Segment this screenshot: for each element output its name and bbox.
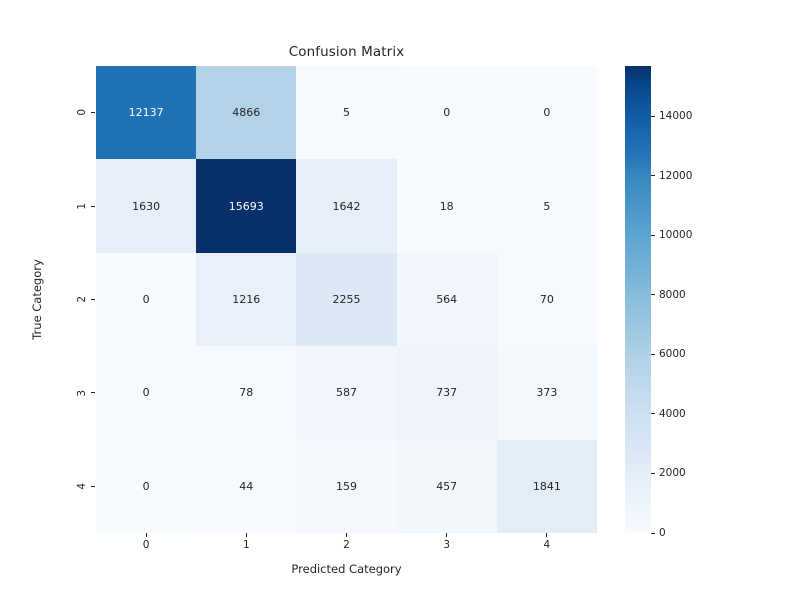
heatmap-cell-3-0: 0 <box>96 346 196 439</box>
heatmap-cell-0-4: 0 <box>497 66 597 159</box>
x-axis-tick-labels: 01234 <box>96 533 597 557</box>
colorbar-tick-label: 2000 <box>659 468 686 479</box>
confusion-matrix-figure: Confusion Matrix 12137486650016301569316… <box>0 0 800 600</box>
heatmap-cell-value: 70 <box>540 294 554 305</box>
colorbar-tick-label: 14000 <box>659 111 692 122</box>
heatmap-cell-1-2: 1642 <box>296 159 396 252</box>
colorbar-tick-label: 10000 <box>659 230 692 241</box>
y-axis-title: True Category <box>30 66 50 533</box>
heatmap-cell-0-0: 12137 <box>96 66 196 159</box>
colorbar-tick-label: 0 <box>659 528 666 539</box>
heatmap-cell-value: 0 <box>143 387 150 398</box>
heatmap-cell-value: 78 <box>239 387 253 398</box>
y-tick-mark <box>91 206 95 207</box>
heatmap-cell-4-1: 44 <box>196 440 296 533</box>
colorbar-tick-mark <box>651 533 655 534</box>
colorbar: 02000400060008000100001200014000 <box>625 66 651 533</box>
heatmap-cell-2-3: 564 <box>397 253 497 346</box>
colorbar-tick-label: 12000 <box>659 171 692 182</box>
heatmap-cell-value: 12137 <box>129 107 164 118</box>
heatmap-cell-value: 1216 <box>232 294 260 305</box>
heatmap-cell-2-2: 2255 <box>296 253 396 346</box>
heatmap-cell-value: 18 <box>440 201 454 212</box>
heatmap-cell-value: 0 <box>143 481 150 492</box>
x-tick-3: 3 <box>397 533 497 557</box>
heatmap-cell-2-0: 0 <box>96 253 196 346</box>
heatmap-cell-4-4: 1841 <box>497 440 597 533</box>
heatmap-cell-3-2: 587 <box>296 346 396 439</box>
heatmap-cell-value: 0 <box>543 107 550 118</box>
heatmap-cell-4-3: 457 <box>397 440 497 533</box>
heatmap-cell-0-3: 0 <box>397 66 497 159</box>
heatmap-cell-1-3: 18 <box>397 159 497 252</box>
heatmap-cell-value: 1630 <box>132 201 160 212</box>
heatmap-cell-value: 737 <box>436 387 457 398</box>
colorbar-tick-mark <box>651 175 655 176</box>
heatmap-cell-0-1: 4866 <box>196 66 296 159</box>
heatmap-cell-value: 587 <box>336 387 357 398</box>
heatmap-cell-value: 0 <box>443 107 450 118</box>
heatmap-cell-3-4: 373 <box>497 346 597 439</box>
x-tick-label: 1 <box>243 540 250 551</box>
x-tick-0: 0 <box>96 533 196 557</box>
heatmap-cell-value: 44 <box>239 481 253 492</box>
colorbar-tick-mark <box>651 294 655 295</box>
x-tick-label: 3 <box>443 540 450 551</box>
heatmap-grid: 1213748665001630156931642185012162255564… <box>96 66 597 533</box>
heatmap-cell-value: 373 <box>536 387 557 398</box>
colorbar-tick-mark <box>651 116 655 117</box>
y-tick-mark <box>91 486 95 487</box>
heatmap-cell-2-1: 1216 <box>196 253 296 346</box>
chart-title: Confusion Matrix <box>96 44 597 60</box>
heatmap-cell-value: 0 <box>143 294 150 305</box>
heatmap-cell-1-4: 5 <box>497 159 597 252</box>
x-tick-mark <box>546 533 547 537</box>
y-tick-mark <box>91 392 95 393</box>
heatmap-cell-value: 4866 <box>232 107 260 118</box>
y-tick-label: 1 <box>77 203 88 210</box>
y-tick-mark <box>91 112 95 113</box>
colorbar-tick-label: 8000 <box>659 290 686 301</box>
heatmap-cell-value: 1841 <box>533 481 561 492</box>
y-tick-label: 4 <box>77 483 88 490</box>
heatmap-cell-value: 15693 <box>229 201 264 212</box>
x-tick-2: 2 <box>296 533 396 557</box>
heatmap-cell-2-4: 70 <box>497 253 597 346</box>
colorbar-tick-mark <box>651 235 655 236</box>
x-axis-title: Predicted Category <box>96 562 597 576</box>
colorbar-tick-mark <box>651 413 655 414</box>
heatmap-cell-4-0: 0 <box>96 440 196 533</box>
x-tick-1: 1 <box>196 533 296 557</box>
x-tick-label: 0 <box>143 540 150 551</box>
x-tick-mark <box>246 533 247 537</box>
x-tick-label: 2 <box>343 540 350 551</box>
heatmap-cell-value: 2255 <box>332 294 360 305</box>
heatmap-cell-value: 159 <box>336 481 357 492</box>
colorbar-tick-label: 4000 <box>659 409 686 420</box>
x-tick-mark <box>446 533 447 537</box>
y-tick-mark <box>91 299 95 300</box>
x-tick-label: 4 <box>544 540 551 551</box>
colorbar-gradient <box>625 66 651 533</box>
x-tick-mark <box>146 533 147 537</box>
heatmap-cell-value: 457 <box>436 481 457 492</box>
y-tick-label: 0 <box>77 109 88 116</box>
heatmap-cell-value: 5 <box>343 107 350 118</box>
colorbar-tick-labels: 02000400060008000100001200014000 <box>651 66 721 533</box>
heatmap-cell-1-0: 1630 <box>96 159 196 252</box>
x-tick-4: 4 <box>497 533 597 557</box>
colorbar-tick-label: 6000 <box>659 349 686 360</box>
heatmap-cell-value: 5 <box>543 201 550 212</box>
colorbar-tick-mark <box>651 473 655 474</box>
heatmap-cell-0-2: 5 <box>296 66 396 159</box>
heatmap-cell-1-1: 15693 <box>196 159 296 252</box>
heatmap-cell-value: 564 <box>436 294 457 305</box>
y-tick-label: 3 <box>77 390 88 397</box>
x-tick-mark <box>346 533 347 537</box>
colorbar-tick-mark <box>651 354 655 355</box>
heatmap-cell-4-2: 159 <box>296 440 396 533</box>
y-tick-label: 2 <box>77 296 88 303</box>
heatmap-cell-value: 1642 <box>332 201 360 212</box>
heatmap-cell-3-3: 737 <box>397 346 497 439</box>
heatmap-cell-3-1: 78 <box>196 346 296 439</box>
